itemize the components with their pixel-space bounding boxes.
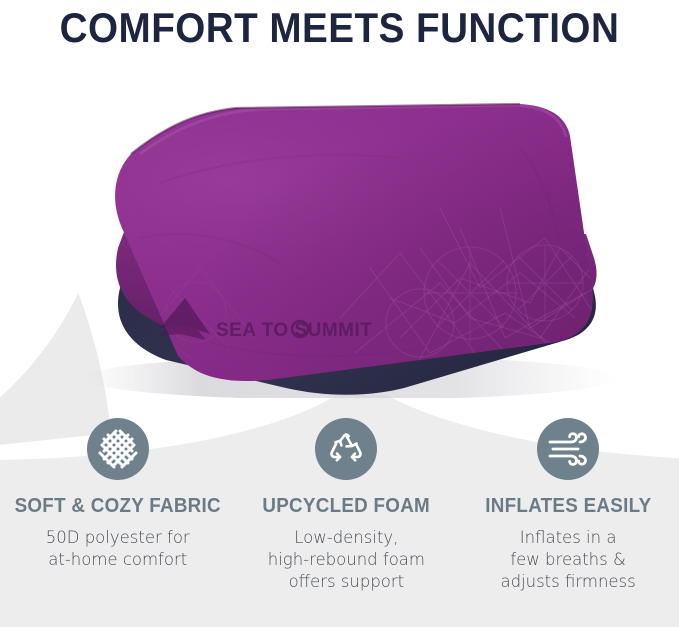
feature-soft-cozy-fabric: SOFT & COZY FABRIC 50D polyester for at-…: [0, 418, 235, 627]
feature-body: Low-density, high-rebound foam offers su…: [268, 527, 425, 593]
recycling-icon: [315, 418, 377, 480]
feature-body-line: offers support: [268, 571, 425, 593]
product-image: SEA TO SUMMIT FOAM CORE PILLOW: [0, 88, 679, 398]
feature-row: SOFT & COZY FABRIC 50D polyester for at-…: [0, 418, 679, 627]
feature-body-line: few breaths &: [500, 549, 635, 571]
pillow-top: [0, 88, 679, 398]
feature-title: INFLATES EASILY: [485, 495, 651, 518]
feature-body-line: 50D polyester for: [46, 527, 190, 549]
feature-body-line: adjusts firmness: [500, 571, 635, 593]
feature-body-line: Inflates in a: [500, 527, 635, 549]
product-model-text: FOAM CORE PILLOW: [370, 322, 488, 334]
feature-title: UPCYCLED FOAM: [263, 495, 431, 518]
feature-upcycled-foam: UPCYCLED FOAM Low-density, high-rebound …: [235, 418, 457, 627]
feature-body: Inflates in a few breaths & adjusts firm…: [500, 527, 635, 593]
woven-fabric-icon: [87, 418, 149, 480]
feature-body-line: at-home comfort: [46, 549, 190, 571]
feature-body-line: Low-density,: [268, 527, 425, 549]
page-headline: COMFORT MEETS FUNCTION: [27, 4, 652, 52]
feature-inflates-easily: INFLATES EASILY Inflates in a few breath…: [457, 418, 679, 627]
feature-title: SOFT & COZY FABRIC: [15, 495, 221, 518]
wind-icon: [537, 418, 599, 480]
feature-body-line: high-rebound foam: [268, 549, 425, 571]
feature-body: 50D polyester for at-home comfort: [46, 527, 190, 571]
